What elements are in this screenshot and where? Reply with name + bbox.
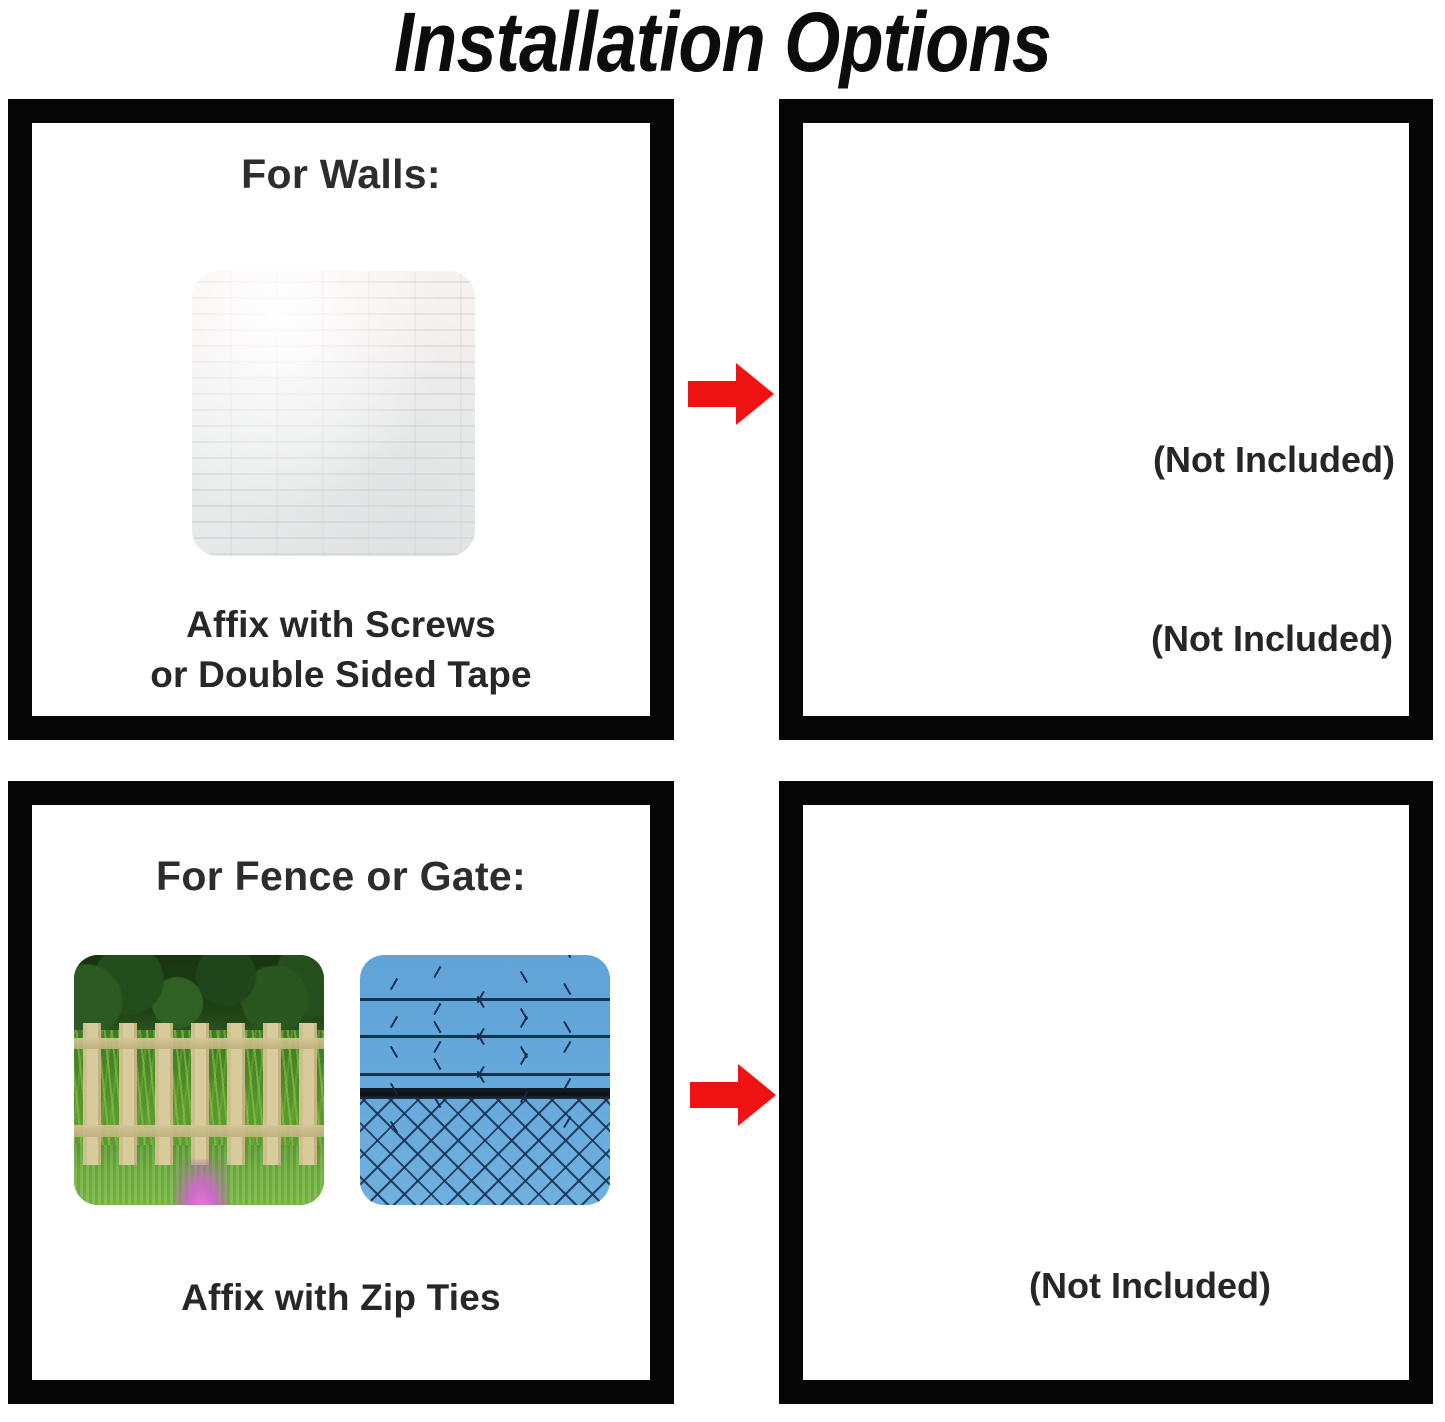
picket-rail-lower <box>74 1125 324 1137</box>
tape-not-included-label: (Not Included) <box>1153 439 1395 481</box>
panel-fence-hardware: (Not Included) <box>779 781 1433 1404</box>
panel-for-walls-caption-line1: Affix with Screws <box>32 600 650 650</box>
picket-path <box>174 1160 229 1205</box>
picket-rail-upper <box>74 1038 324 1050</box>
panel-for-walls: For Walls: Affix with Screws or Double S… <box>8 99 674 740</box>
arrow-right-icon <box>690 1064 776 1126</box>
page-title: Installation Options <box>101 0 1344 90</box>
installation-options-infographic: Installation Options For Walls: Affix wi… <box>0 0 1445 1422</box>
zipties-not-included-label: (Not Included) <box>1029 1265 1271 1307</box>
wooden-picket-fence-image <box>74 955 324 1205</box>
panel-for-fence-or-gate: For Fence or Gate: Affix with Zip Tie <box>8 781 674 1404</box>
panel-for-fence-caption: Affix with Zip Ties <box>32 1273 650 1323</box>
brick-sheen <box>192 271 475 556</box>
white-brick-wall-image <box>192 271 475 556</box>
panel-wall-hardware: (Not Included) <box>779 99 1433 740</box>
screws-not-included-label: (Not Included) <box>1151 618 1393 660</box>
arrow-right-icon <box>688 363 774 425</box>
panel-for-walls-caption-line2: or Double Sided Tape <box>32 650 650 700</box>
chain-link-barbed-wire-fence-image <box>360 955 610 1205</box>
barbed-wire-3 <box>360 1073 610 1076</box>
barbed-wire-2 <box>360 1035 610 1038</box>
panel-for-fence-heading: For Fence or Gate: <box>32 853 650 900</box>
barbed-wire-1 <box>360 998 610 1001</box>
panel-for-walls-heading: For Walls: <box>32 151 650 198</box>
chain-link-mesh <box>360 1090 610 1205</box>
